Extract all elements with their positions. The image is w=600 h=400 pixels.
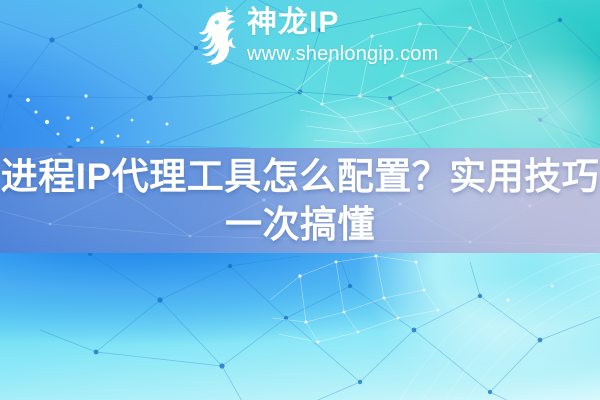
page-title-line-2: 一次搞懂 — [225, 201, 375, 249]
page-title: 进程IP代理工具怎么配置？实用技巧 一次搞懂 — [0, 148, 600, 253]
title-band: 进程IP代理工具怎么配置？实用技巧 一次搞懂 — [0, 148, 600, 253]
promo-banner: 神龙IP www.shenlongip.com — [0, 0, 600, 400]
page-title-line-1: 进程IP代理工具怎么配置？实用技巧 — [1, 153, 599, 201]
